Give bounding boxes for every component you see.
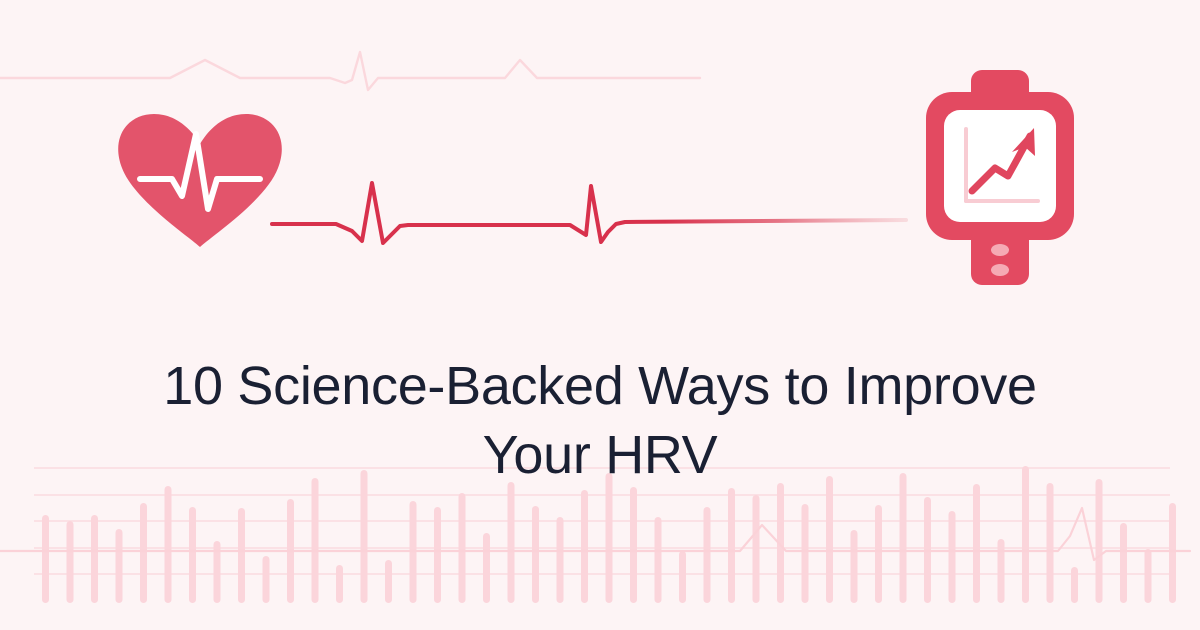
watch-face <box>944 110 1056 222</box>
chart-bar <box>385 560 392 603</box>
smartwatch-icon <box>915 70 1085 285</box>
chart-bar <box>140 503 147 603</box>
ecg-pulse-line-faint-top <box>0 52 700 90</box>
chart-bar <box>42 515 49 603</box>
chart-bar <box>728 488 735 603</box>
chart-bar <box>679 551 686 603</box>
chart-bar <box>238 508 245 603</box>
chart-bar <box>557 517 564 603</box>
chart-bar <box>263 556 270 603</box>
chart-bar <box>949 511 956 603</box>
chart-bar <box>1071 567 1078 603</box>
chart-bar <box>1169 503 1176 603</box>
chart-bar <box>67 521 74 603</box>
chart-bar <box>581 490 588 603</box>
chart-bar <box>924 497 931 603</box>
chart-bar <box>508 482 515 603</box>
chart-bar <box>826 476 833 603</box>
ecg-pulse-line-faint-bottom <box>0 508 1190 560</box>
title-block: 10 Science-Backed Ways to Improve Your H… <box>0 352 1200 490</box>
chart-bar <box>165 486 172 603</box>
chart-bar <box>998 539 1005 603</box>
chart-bar <box>312 478 319 603</box>
ecg-pulse-line <box>272 183 906 243</box>
chart-bar <box>532 506 539 603</box>
chart-bar <box>875 505 882 603</box>
chart-bar <box>116 529 123 603</box>
chart-bar <box>483 533 490 603</box>
chart-bar <box>777 483 784 603</box>
chart-bar <box>753 495 760 603</box>
chart-bar <box>1047 483 1054 603</box>
chart-bar <box>851 530 858 603</box>
chart-bar <box>189 507 196 603</box>
chart-bar <box>802 504 809 603</box>
chart-bar <box>287 499 294 603</box>
chart-bar <box>434 507 441 603</box>
chart-bar <box>1120 523 1127 603</box>
chart-bar <box>655 517 662 603</box>
chart-bar <box>630 487 637 603</box>
chart-bar <box>214 541 221 603</box>
chart-bar <box>973 484 980 603</box>
chart-bar <box>704 507 711 603</box>
chart-bar <box>410 501 417 603</box>
chart-bar <box>1145 549 1152 603</box>
chart-bar <box>459 493 466 603</box>
chart-bar <box>91 515 98 603</box>
chart-bar <box>336 565 343 603</box>
chart-bar <box>900 473 907 603</box>
heart-pulse-icon <box>110 104 290 254</box>
page-title: 10 Science-Backed Ways to Improve Your H… <box>120 352 1080 490</box>
chart-bar <box>1096 479 1103 603</box>
chart-bar <box>606 473 613 603</box>
banner-canvas: 10 Science-Backed Ways to Improve Your H… <box>0 0 1200 630</box>
